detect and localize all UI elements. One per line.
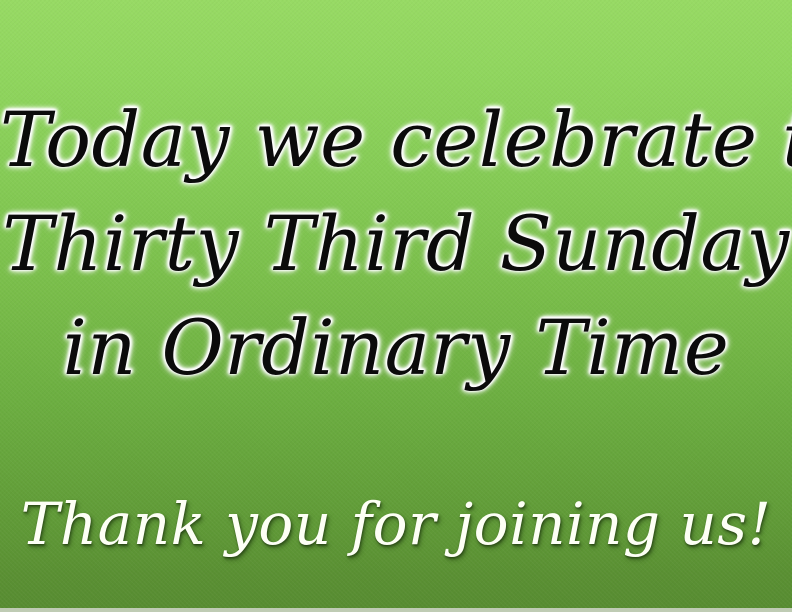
headline-block: Today we celebrate the Thirty Third Sund…	[0, 88, 792, 400]
announcement-slide: Today we celebrate the Thirty Third Sund…	[0, 0, 792, 612]
headline-line-2: Thirty Third Sunday	[0, 192, 792, 296]
bottom-edge-strip	[0, 608, 792, 612]
closing-line-1: Thank you for joining us!	[0, 488, 792, 560]
headline-line-3: in Ordinary Time	[0, 296, 792, 400]
headline-line-1: Today we celebrate the	[0, 88, 792, 192]
closing-block: Thank you for joining us!	[0, 488, 792, 560]
slide-content: Today we celebrate the Thirty Third Sund…	[0, 0, 792, 612]
